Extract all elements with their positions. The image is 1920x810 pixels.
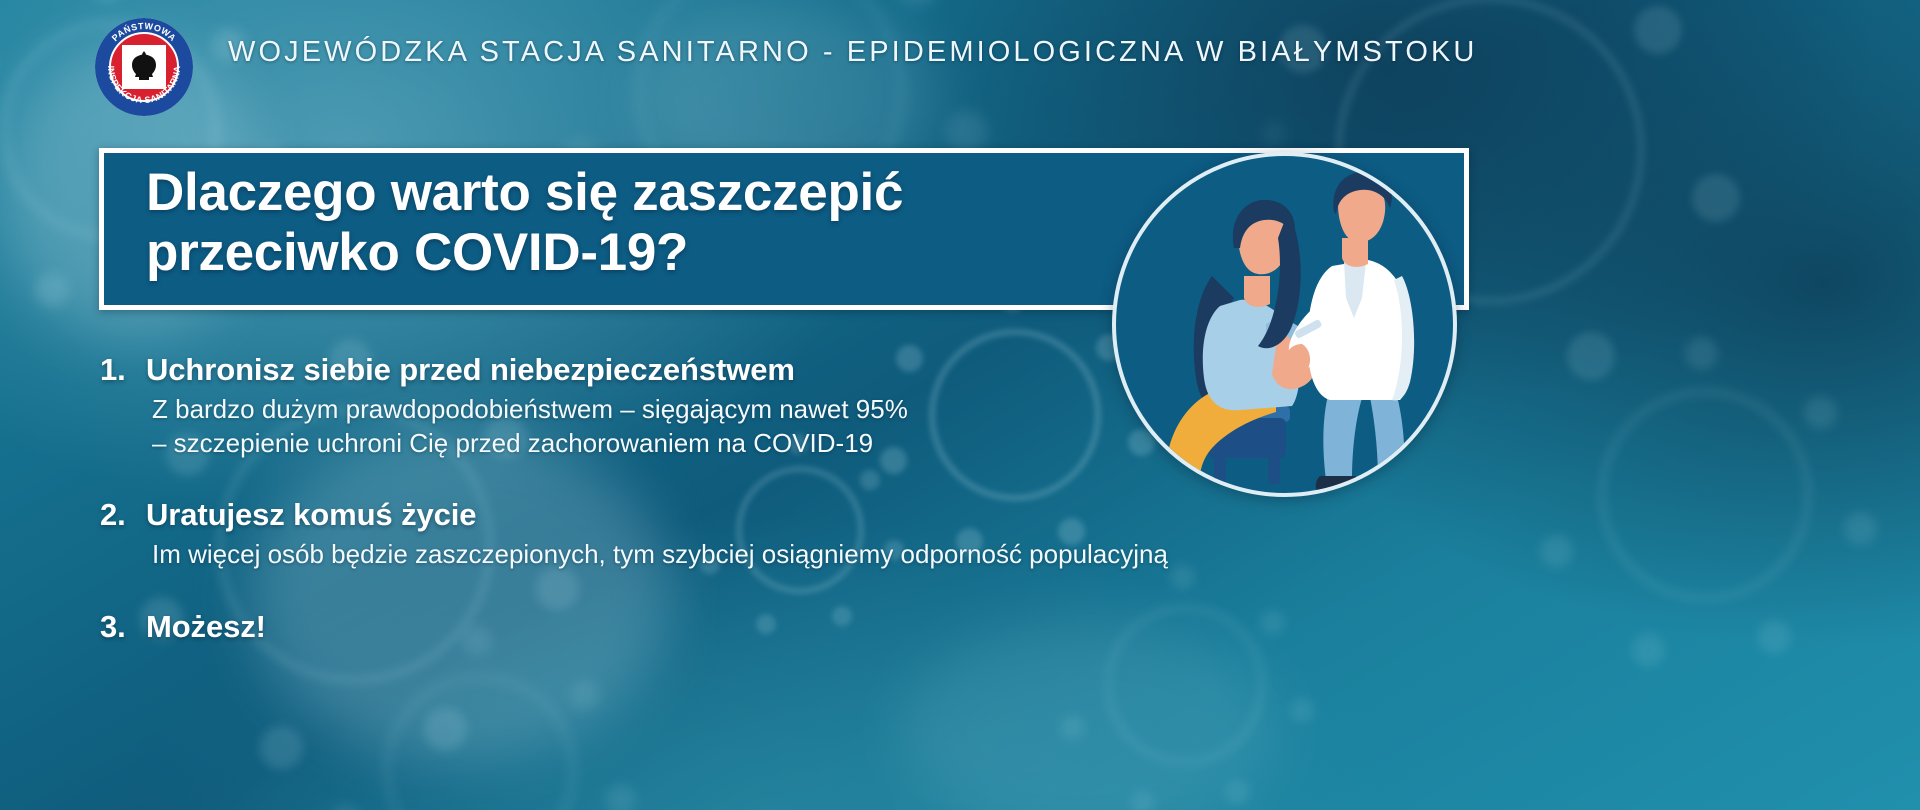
list-item-heading: 3. Możesz! <box>100 609 1460 645</box>
page-title: Dlaczego warto się zaszczepić przeciwko … <box>146 163 1146 284</box>
list-item-heading: 1. Uchronisz siebie przed niebezpieczeńs… <box>100 352 1460 388</box>
list-item-number: 3. <box>100 609 146 645</box>
svg-text:INSPEKCJA SANITARNA: INSPEKCJA SANITARNA <box>106 65 182 105</box>
list-item-heading: 2. Uratujesz komuś życie <box>100 497 1460 533</box>
list-item-number: 2. <box>100 497 146 533</box>
organization-title: WOJEWÓDZKA STACJA SANITARNO - EPIDEMIOLO… <box>228 36 1477 69</box>
logo-top-text: PAŃSTWOWA <box>110 21 178 43</box>
logo-ring-text: PAŃSTWOWA INSPEKCJA SANITARNA <box>95 18 193 116</box>
list-item: 2. Uratujesz komuś życie Im więcej osób … <box>100 497 1460 571</box>
poster-header: PAŃSTWOWA INSPEKCJA SANITARNA WOJEWÓDZKA… <box>0 0 1920 118</box>
title-line-2: przeciwko COVID-19? <box>146 223 1146 283</box>
virus-particle-icon <box>1540 330 1870 660</box>
list-item: 3. Możesz! <box>100 609 1460 645</box>
list-item-title: Możesz! <box>146 609 266 645</box>
logo-bottom-text: INSPEKCJA SANITARNA <box>106 65 182 105</box>
list-item-description: Im więcej osób będzie zaszczepionych, ty… <box>152 537 1460 571</box>
list-item-description-line: – szczepienie uchroni Cię przed zachorow… <box>152 426 1460 460</box>
list-item-number: 1. <box>100 352 146 388</box>
list-item-description-line: Im więcej osób będzie zaszczepionych, ty… <box>152 537 1460 571</box>
list-item: 1. Uchronisz siebie przed niebezpieczeńs… <box>100 352 1460 461</box>
list-item-title: Uratujesz komuś życie <box>146 497 476 533</box>
benefits-list: 1. Uchronisz siebie przed niebezpieczeńs… <box>100 352 1460 645</box>
svg-text:PAŃSTWOWA: PAŃSTWOWA <box>110 21 178 43</box>
poster-canvas: PAŃSTWOWA INSPEKCJA SANITARNA WOJEWÓDZKA… <box>0 0 1920 810</box>
list-item-description: Z bardzo dużym prawdopodobieństwem – się… <box>152 392 1460 461</box>
title-line-1: Dlaczego warto się zaszczepić <box>146 163 903 222</box>
list-item-description-line: Z bardzo dużym prawdopodobieństwem – się… <box>152 392 1460 426</box>
sanitary-inspection-logo: PAŃSTWOWA INSPEKCJA SANITARNA <box>95 18 193 116</box>
list-item-title: Uchronisz siebie przed niebezpieczeństwe… <box>146 352 795 388</box>
